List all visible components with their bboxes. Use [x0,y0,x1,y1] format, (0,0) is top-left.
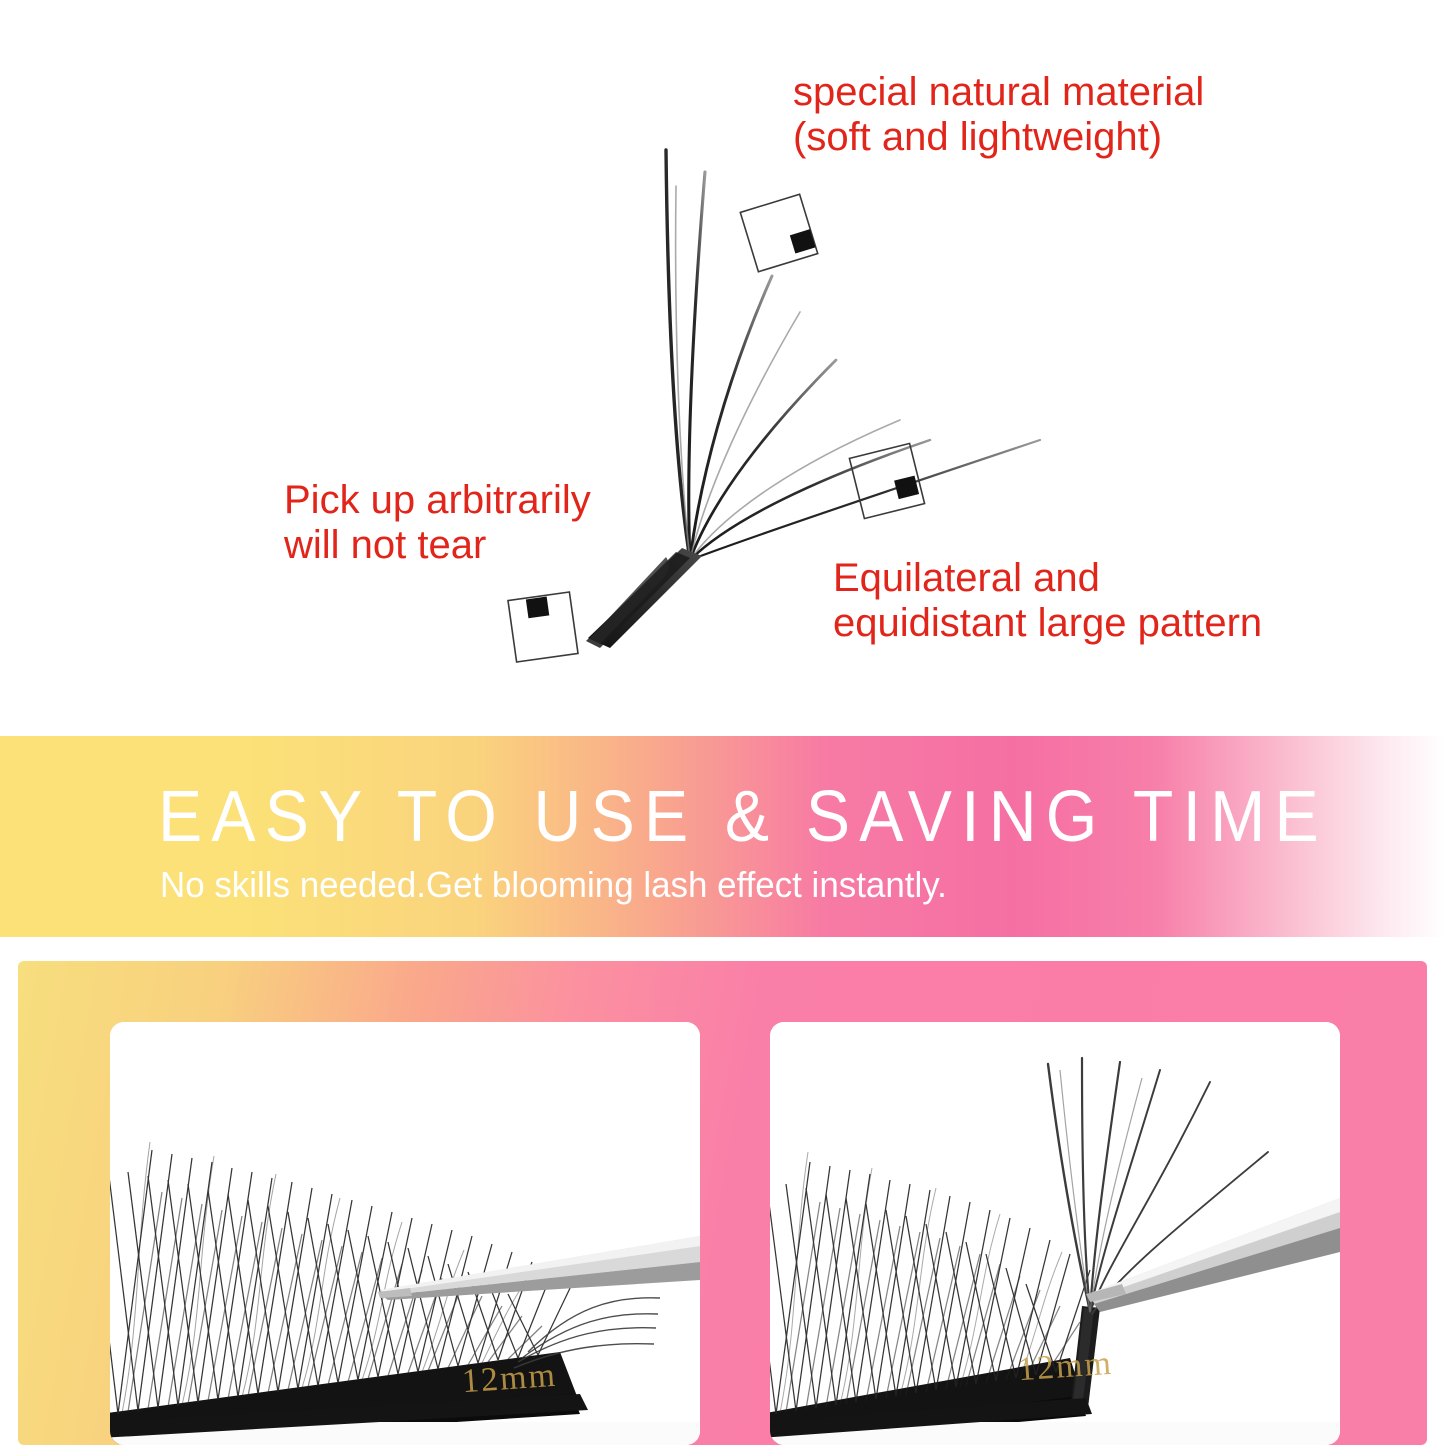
callout-special-material: special natural material (soft and light… [793,70,1204,160]
gallery-panel-lash-tray[interactable]: 12mm [110,1022,700,1445]
promo-banner-text-group: EASY TO USE & SAVING TIME No skills need… [150,736,1330,937]
callout-equilateral: Equilateral and equidistant large patter… [833,556,1262,646]
lash-filaments [666,150,1040,560]
product-infographic: special natural material (soft and light… [0,0,1445,1445]
callout-marker-base [508,592,578,662]
hero-illustration-section: special natural material (soft and light… [0,0,1445,736]
lash-tray-photo [110,1022,700,1445]
size-label-right: 12mm [1017,1345,1114,1390]
lash-filaments-secondary [676,186,900,560]
callout-marker-top [740,194,817,271]
gallery-panel-lash-pickup[interactable]: 12mm [770,1022,1340,1445]
promo-banner-subtitle: No skills needed.Get blooming lash effec… [160,864,947,906]
promo-banner: EASY TO USE & SAVING TIME No skills need… [0,736,1445,937]
size-label-left: 12mm [461,1357,558,1402]
callout-pick-up: Pick up arbitrarily will not tear [284,478,591,568]
lash-base-strip [586,548,702,648]
promo-banner-title: EASY TO USE & SAVING TIME [158,776,1328,858]
